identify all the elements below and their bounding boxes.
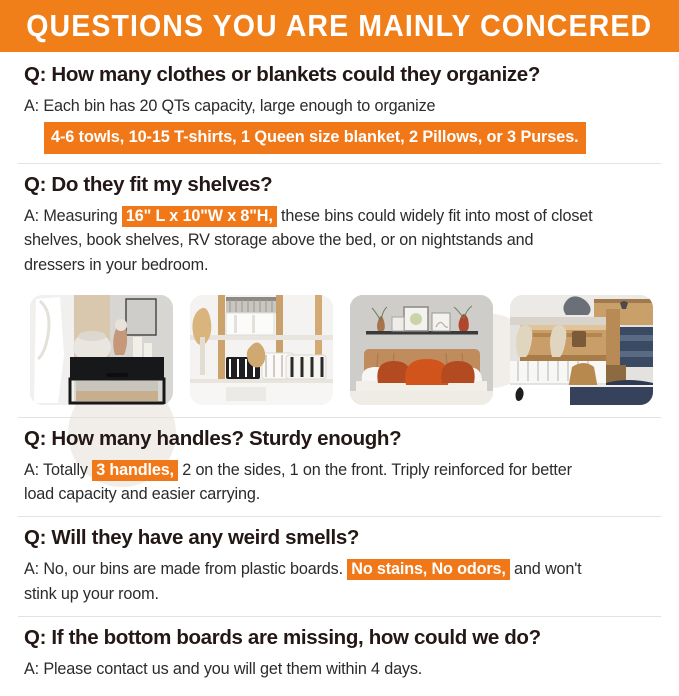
faq-answer-4-line2: stink up your room. — [24, 582, 663, 607]
photo-rv-overhead-storage[interactable] — [510, 295, 653, 405]
faq-question-4: Q: Will they have any weird smells? — [24, 526, 663, 550]
faq-answer-1-text: A: Each bin has 20 QTs capacity, large e… — [24, 97, 435, 115]
faq-question-3: Q: How many handles? Sturdy enough? — [24, 427, 663, 451]
faq-answer-4-part1: A: No, our bins are made from plastic bo… — [24, 560, 347, 578]
faq-item-1: Q: How many clothes or blankets could th… — [16, 52, 663, 163]
faq-question-1: Q: How many clothes or blankets could th… — [24, 63, 663, 87]
faq-answer-2-part1: A: Measuring — [24, 207, 122, 225]
faq-answer-1: A: Each bin has 20 QTs capacity, large e… — [24, 94, 663, 153]
photo-bed-with-wall-shelf[interactable] — [350, 295, 493, 405]
faq-answer-3-highlight: 3 handles, — [92, 460, 178, 481]
faq-answer-2: A: Measuring 16" L x 10"W x 8"H, these b… — [24, 204, 663, 278]
photo-wooden-shelving-unit[interactable] — [190, 295, 333, 405]
photo-gallery — [16, 287, 663, 417]
faq-answer-2-line2: shelves, book shelves, RV storage above … — [24, 228, 663, 253]
faq-answer-2-part2: these bins could widely fit into most of… — [277, 207, 593, 225]
photo-bedroom-nightstand[interactable] — [30, 295, 173, 405]
faq-question-5: Q: If the bottom boards are missing, how… — [24, 626, 663, 650]
faq-answer-3-line2: load capacity and easier carrying. — [24, 482, 663, 507]
faq-answer-1-highlight-band: 4-6 towls, 10-15 T-shirts, 1 Queen size … — [44, 122, 586, 154]
faq-item-5: Q: If the bottom boards are missing, how… — [16, 617, 663, 696]
faq-answer-5: A: Please contact us and you will get th… — [24, 657, 663, 682]
photo-bedroom-nightstand-image — [30, 295, 173, 405]
faq-item-2: Q: Do they fit my shelves? A: Measuring … — [16, 164, 663, 287]
faq-item-4: Q: Will they have any weird smells? A: N… — [16, 517, 663, 615]
faq-answer-4-part2: and won't — [510, 560, 582, 578]
page-title: QUESTIONS YOU ARE MAINLY CONCERED — [27, 8, 653, 44]
faq-answer-5-text: A: Please contact us and you will get th… — [24, 660, 422, 678]
photo-bed-with-wall-shelf-image — [350, 295, 493, 405]
photo-wooden-shelving-unit-image — [190, 295, 333, 405]
faq-answer-4-highlight: No stains, No odors, — [347, 559, 509, 580]
faq-answer-2-line3: dressers in your bedroom. — [24, 253, 663, 278]
header-banner: QUESTIONS YOU ARE MAINLY CONCERED — [0, 0, 679, 52]
faq-item-3: Q: How many handles? Sturdy enough? A: T… — [16, 418, 663, 516]
faq-answer-3-part1: A: Totally — [24, 461, 92, 479]
faq-answer-4: A: No, our bins are made from plastic bo… — [24, 557, 663, 606]
faq-answer-3-part2: 2 on the sides, 1 on the front. Triply r… — [178, 461, 572, 479]
faq-question-2: Q: Do they fit my shelves? — [24, 173, 663, 197]
faq-answer-3: A: Totally 3 handles, 2 on the sides, 1 … — [24, 458, 663, 507]
faq-answer-2-highlight: 16" L x 10"W x 8"H, — [122, 206, 277, 227]
photo-rv-overhead-storage-image — [510, 295, 653, 405]
faq-content: Q: How many clothes or blankets could th… — [0, 52, 679, 696]
